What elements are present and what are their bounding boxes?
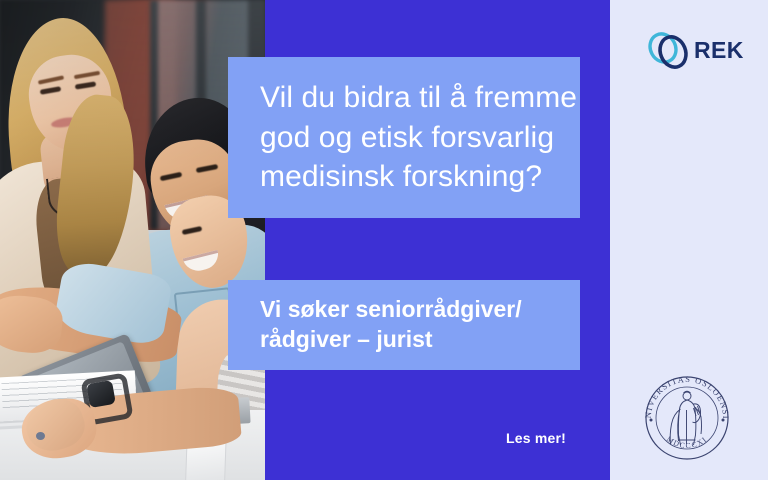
read-more-button[interactable]: Les mer!: [506, 430, 566, 446]
recruitment-banner: Vil du bidra til å fremme god og etisk f…: [0, 0, 768, 480]
photo-scene: [0, 0, 265, 480]
job-title-box: Vi søker seniorrådgiver/ rådgiver – juri…: [228, 280, 580, 370]
rek-interlocking-rings-icon: [648, 28, 690, 72]
team-photo: [0, 0, 265, 480]
photo-person-a-ring: [36, 432, 45, 440]
photo-smartwatch: [86, 380, 116, 408]
uio-seal: UNIVERSITAS OSLOENSIS MDCCCXI: [637, 368, 737, 468]
rek-logo[interactable]: REK: [648, 26, 740, 74]
rek-wordmark: REK: [694, 39, 744, 62]
headline-text: Vil du bidra til å fremme god og etisk f…: [228, 78, 577, 198]
headline-box: Vil du bidra til å fremme god og etisk f…: [228, 57, 580, 218]
svg-text:MDCCCXI: MDCCCXI: [665, 434, 709, 450]
job-title-text: Vi søker seniorrådgiver/ rådgiver – juri…: [228, 295, 522, 355]
uio-year-text: MDCCCXI: [665, 434, 709, 450]
uio-apollo-figure: [670, 391, 701, 445]
